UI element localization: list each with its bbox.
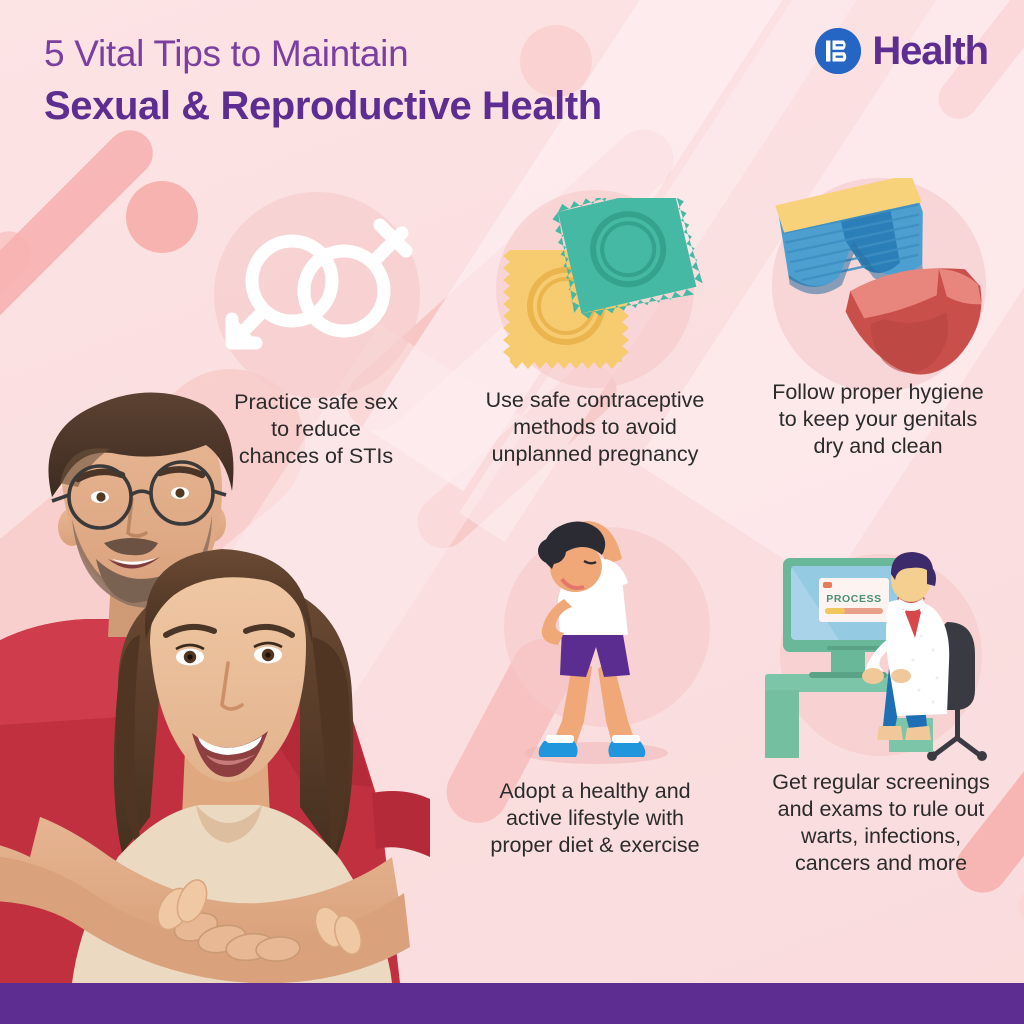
brand-logo[interactable]: Health: [815, 28, 988, 74]
monitor-screen-label: PROCESS: [826, 593, 882, 605]
tip-card-2: Use safe contraceptive methods to avoid …: [462, 196, 728, 468]
tip-card-4: Adopt a healthy and active lifestyle wit…: [462, 505, 728, 859]
page-title-line2: Sexual & Reproductive Health: [44, 84, 602, 129]
tip-1-icon-area: [192, 200, 440, 385]
tip-1-caption: Practice safe sex to reduce chances of S…: [192, 389, 440, 470]
header: 5 Vital Tips to Maintain Sexual & Reprod…: [0, 0, 1024, 150]
gender-symbols-icon: [216, 203, 416, 383]
tip-2-caption: Use safe contraceptive methods to avoid …: [462, 387, 728, 468]
condom-packets-icon: [480, 198, 710, 380]
tip-4-icon-area: [462, 505, 728, 770]
tip-3-caption: Follow proper hygiene to keep your genit…: [742, 379, 1014, 460]
tip-5-icon-area: PROCESS: [748, 548, 1014, 763]
couple-photo-illustration: [0, 387, 430, 983]
tip-3-icon-area: [742, 180, 1014, 375]
bottom-bar: [0, 983, 1024, 1024]
tip-4-caption: Adopt a healthy and active lifestyle wit…: [462, 778, 728, 859]
brand-logo-text: Health: [872, 28, 988, 74]
doctor-at-computer-icon: PROCESS: [761, 550, 1001, 762]
couple-photo: [0, 387, 430, 983]
bajaj-b-logo-icon: [815, 28, 861, 74]
woman-stretching-icon: [488, 507, 703, 769]
infographic-canvas: 5 Vital Tips to Maintain Sexual & Reprod…: [0, 0, 1024, 1024]
tip-card-1: Practice safe sex to reduce chances of S…: [192, 200, 440, 470]
tip-card-3: Follow proper hygiene to keep your genit…: [742, 180, 1014, 460]
deco-circle-left: [126, 181, 198, 253]
page-title-line1: 5 Vital Tips to Maintain: [44, 33, 408, 75]
tip-card-5: PROCESS: [748, 548, 1014, 877]
tip-2-icon-area: [462, 196, 728, 381]
underwear-icon: [753, 178, 1003, 378]
tip-5-caption: Get regular screenings and exams to rule…: [748, 769, 1014, 877]
